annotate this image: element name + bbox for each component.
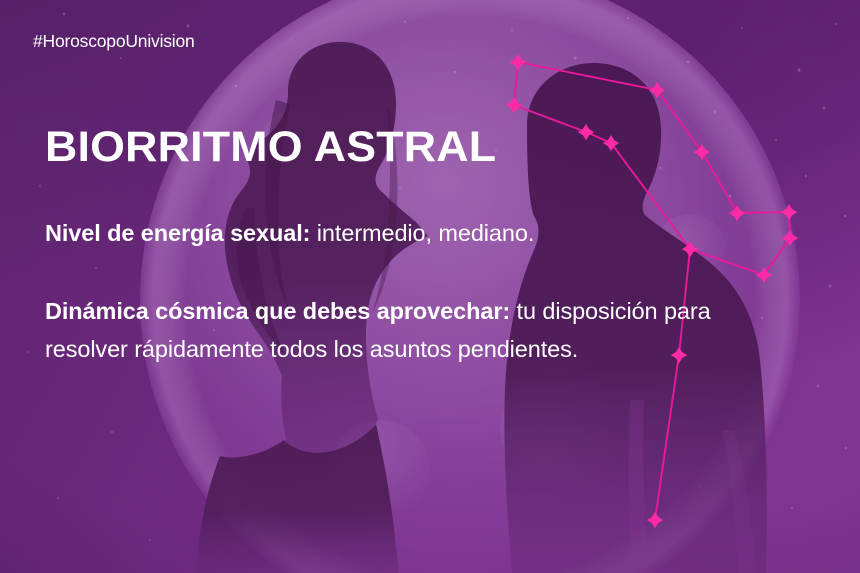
- energy-level-paragraph: Nivel de energía sexual: intermedio, med…: [45, 214, 805, 252]
- page-title: BIORRITMO ASTRAL: [45, 125, 496, 169]
- energy-level-value: intermedio, mediano.: [310, 220, 534, 246]
- cosmic-dynamic-paragraph: Dinámica cósmica que debes aprovechar: t…: [45, 292, 775, 368]
- cosmic-dynamic-label: Dinámica cósmica que debes aprovechar:: [45, 298, 510, 324]
- energy-level-label: Nivel de energía sexual:: [45, 220, 310, 246]
- hashtag-label: #HoroscopoUnivision: [33, 31, 195, 52]
- horoscope-card: #HoroscopoUnivision BIORRITMO ASTRAL Niv…: [0, 0, 860, 573]
